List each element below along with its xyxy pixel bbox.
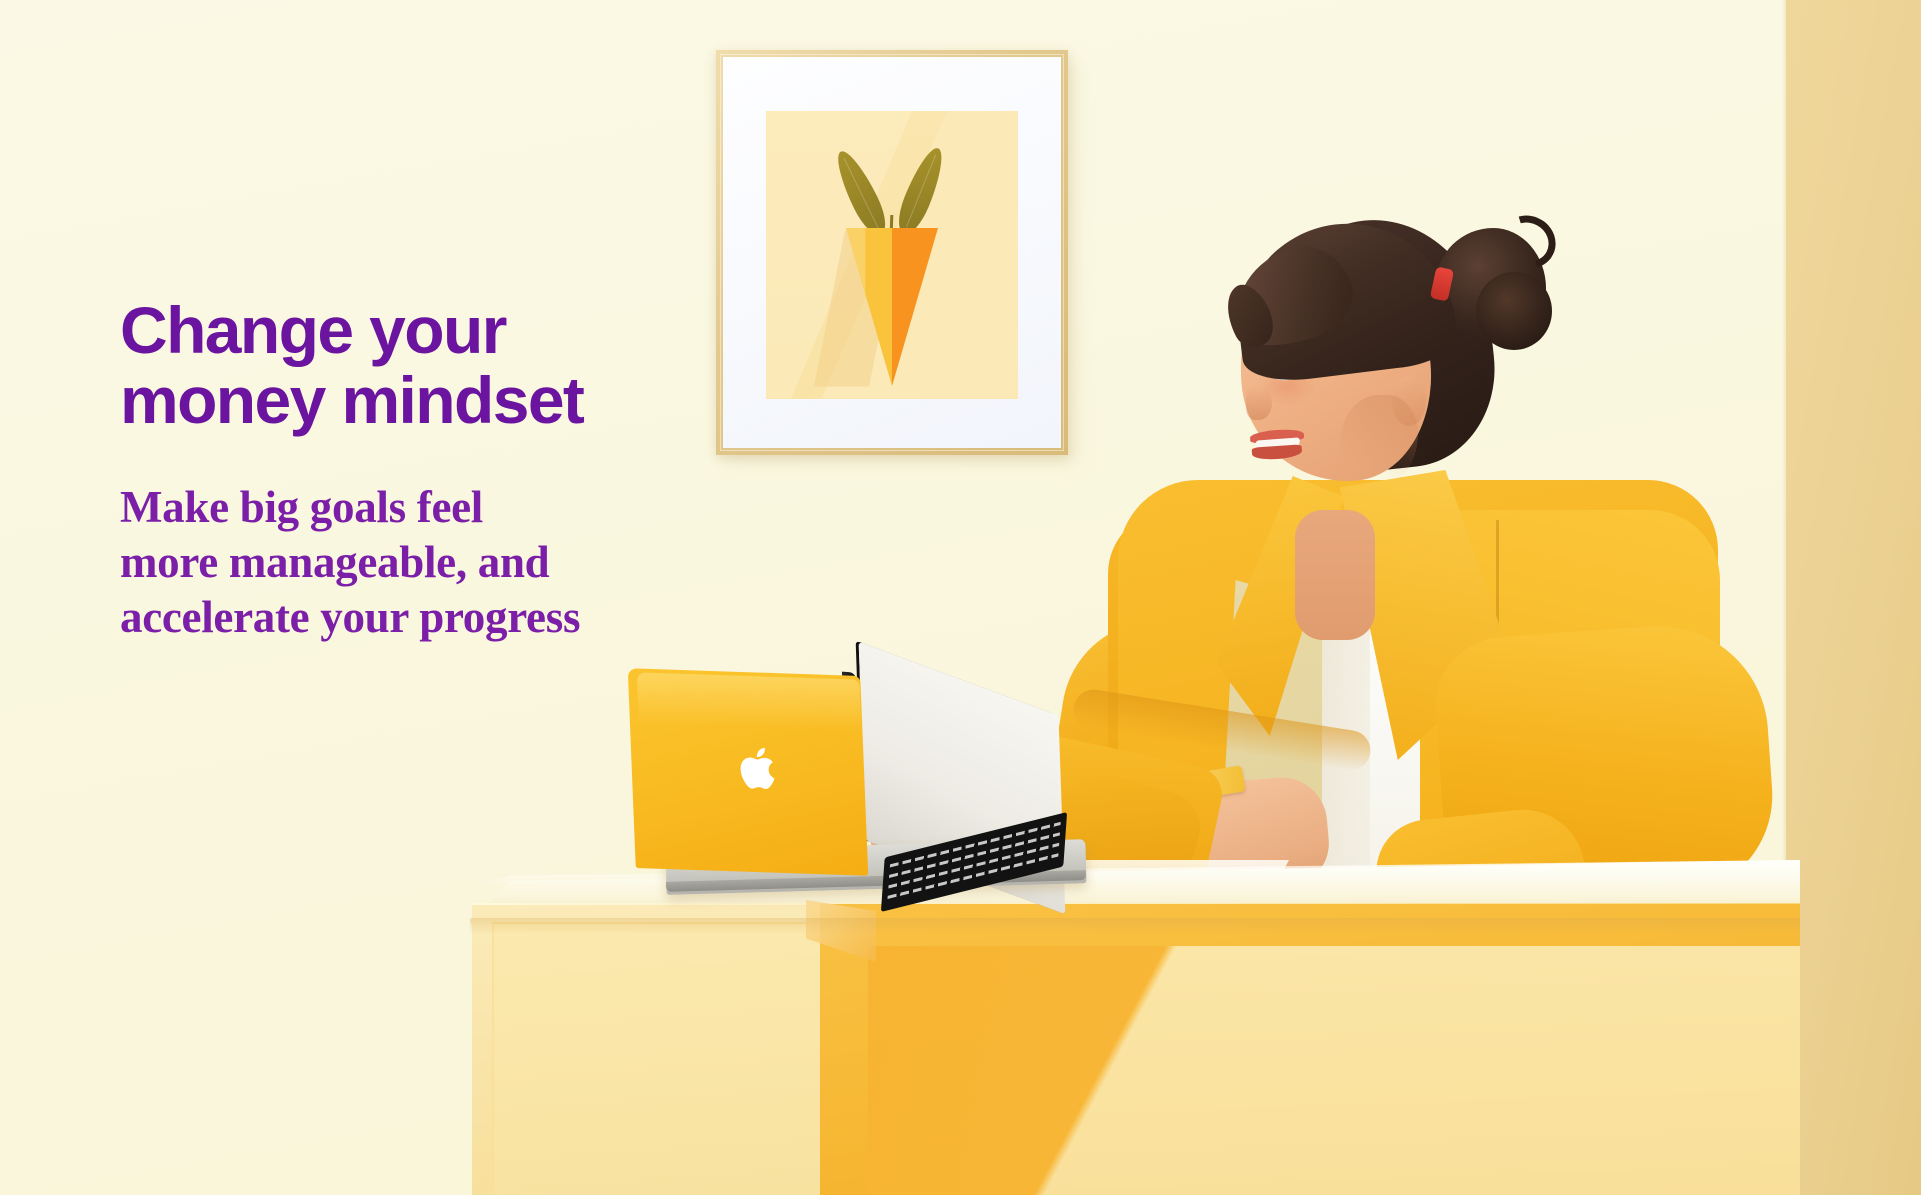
- desk-contact-shadow: [470, 918, 1800, 934]
- vase-right-face: [892, 228, 938, 386]
- hero-illustration-scene: Change your money mindset Make big goals…: [0, 0, 1921, 1195]
- laptop-lid-highlight: [637, 672, 862, 731]
- hero-copy: Change your money mindset Make big goals…: [120, 296, 780, 645]
- page-title: Change your money mindset: [120, 296, 780, 436]
- desk-panel-right-shadow: [868, 946, 1800, 1195]
- hair-bun-lobe: [1476, 272, 1552, 350]
- neck: [1295, 510, 1375, 640]
- page-subtitle: Make big goals feel more manageable, and…: [120, 480, 780, 645]
- nose: [1246, 386, 1272, 420]
- desk-panel-left-inset: [492, 922, 820, 1195]
- wall-right-panel: [1786, 0, 1921, 1195]
- apple-logo-icon: [736, 741, 782, 794]
